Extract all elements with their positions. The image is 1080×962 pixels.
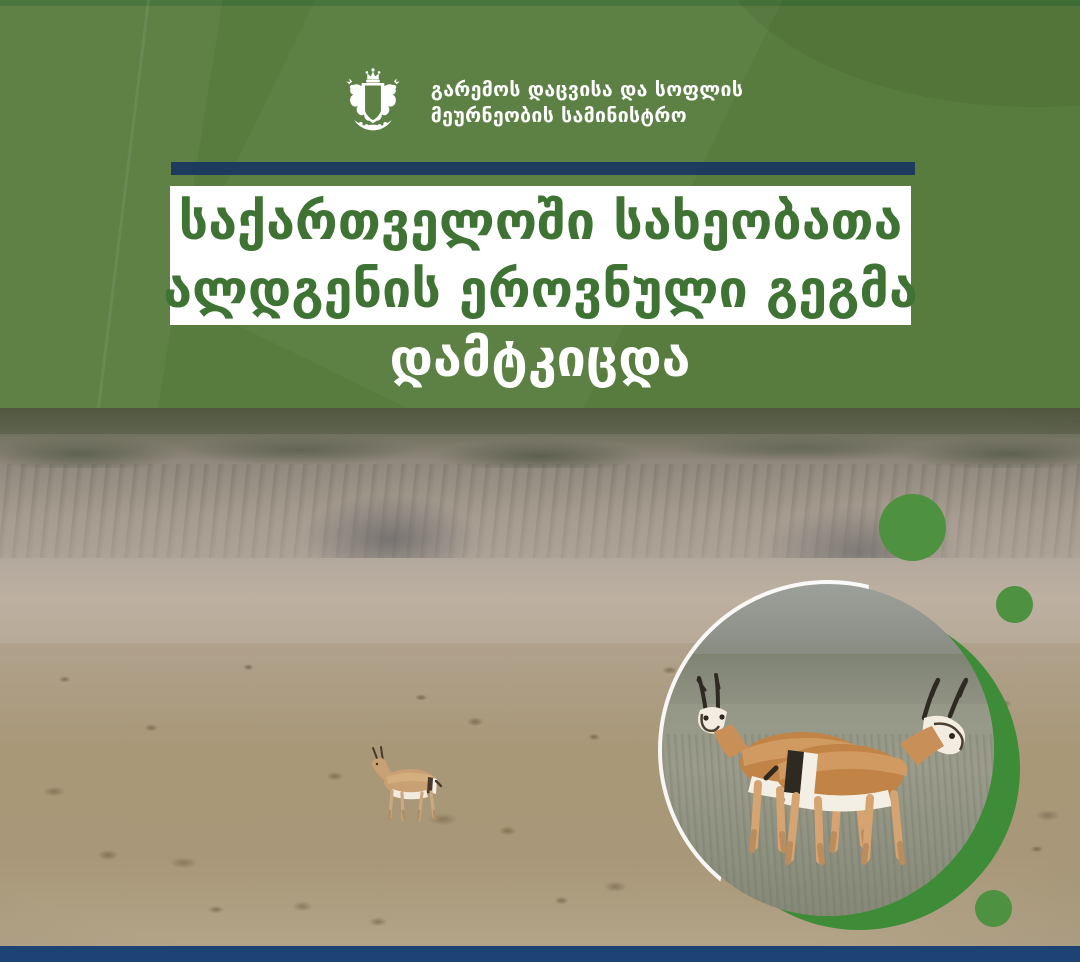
title-line-3: დამტკიცდა [0, 333, 1080, 385]
ministry-logo-lockup: გარემოს დაცვისა და სოფლის მეურნეობის სამ… [0, 63, 1080, 143]
title-banner: საქართველოში სახეობათა ალდგენის ეროვნული… [170, 186, 911, 325]
ministry-name-label: გარემოს დაცვისა და სოფლის მეურნეობის სამ… [431, 77, 743, 128]
decorative-dot-large [879, 494, 946, 561]
gazelle-pair-inset [650, 560, 1030, 940]
lone-gazelle-icon [352, 745, 452, 827]
poster-root: გარემოს დაცვისა და სოფლის მეურნეობის სამ… [0, 0, 1080, 962]
georgia-coat-of-arms-icon [337, 67, 409, 139]
navy-accent-bar [171, 162, 915, 175]
title-line-1: საქართველოში სახეობათა [179, 189, 903, 257]
title-line-2: ალდგენის ეროვნული გეგმა [163, 257, 918, 325]
bottom-navy-bar [0, 946, 1080, 962]
